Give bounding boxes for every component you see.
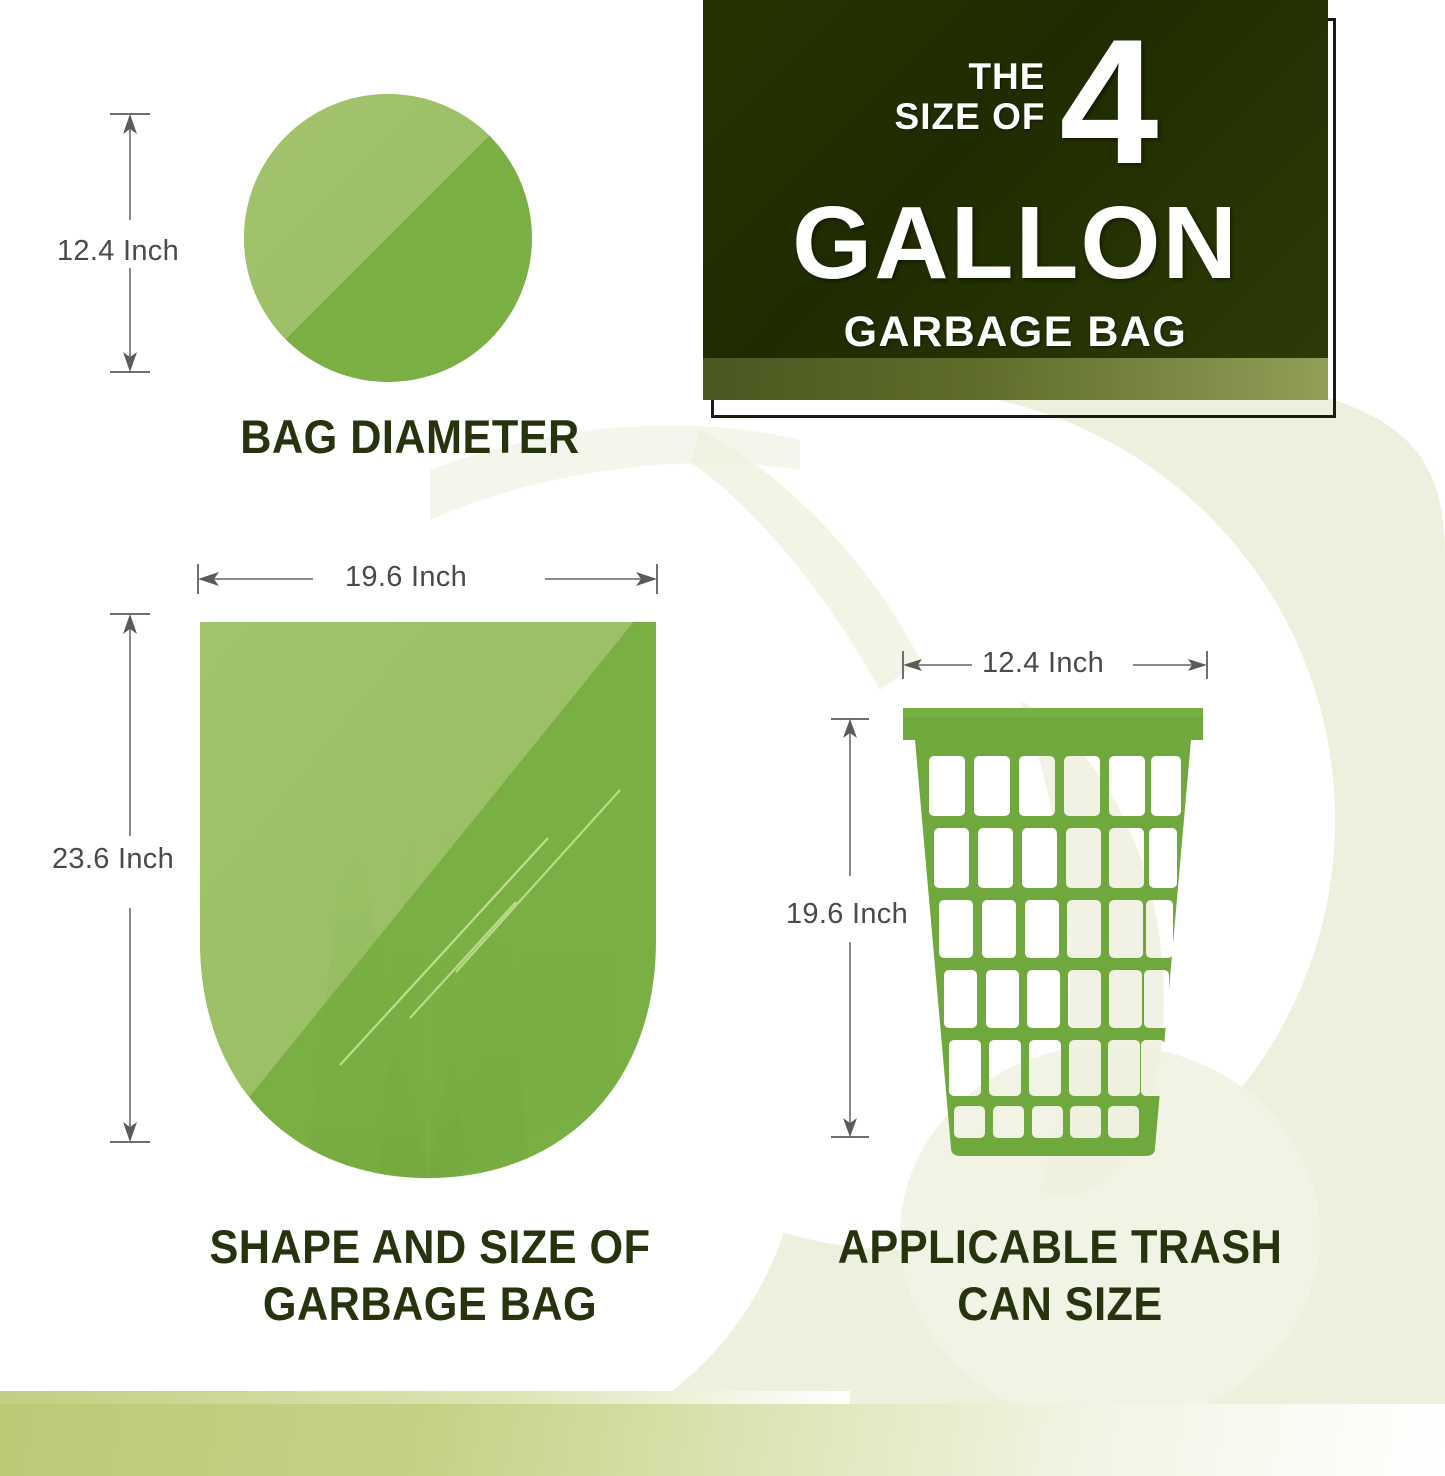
banner-size-of-label: SIZE OF (895, 95, 1046, 139)
banner-subtitle: GARBAGE BAG (844, 308, 1188, 357)
trash-can-illustration (893, 700, 1213, 1160)
infographic-canvas: THE SIZE OF 4 GALLON GARBAGE BAG 12.4 In… (0, 0, 1445, 1476)
banner-gallon-number: 4 (1059, 24, 1158, 181)
banner-gallon-label: GALLON (792, 191, 1239, 294)
garbage-bag-illustration (198, 620, 658, 1180)
trash-can-caption-line2: CAN SIZE (812, 1275, 1309, 1332)
bag-height-dimension-line (100, 608, 160, 1148)
bag-diameter-circle (243, 93, 533, 383)
bag-width-label: 19.6 Inch (345, 561, 467, 594)
bag-height-label: 23.6 Inch (52, 843, 174, 876)
footer-gradient-bar (0, 1404, 1445, 1476)
trash-can-width-label: 12.4 Inch (982, 647, 1104, 680)
trash-can-caption-line1: APPLICABLE TRASH (812, 1218, 1309, 1275)
banner-the-size-of-group: THE SIZE OF (895, 24, 1046, 139)
banner-top-row: THE SIZE OF 4 (703, 24, 1328, 181)
banner-bottom-strip (703, 358, 1328, 400)
bag-diameter-caption: BAG DIAMETER (171, 408, 649, 465)
trash-can-height-label: 19.6 Inch (786, 898, 908, 931)
bag-shape-caption-line1: SHAPE AND SIZE OF (154, 1218, 706, 1275)
gallon-size-banner: THE SIZE OF 4 GALLON GARBAGE BAG (703, 0, 1328, 400)
banner-the-label: THE (968, 58, 1045, 95)
bag-diameter-height-label: 12.4 Inch (57, 235, 179, 268)
footer-accent-strip (0, 1391, 850, 1404)
bag-shape-caption-line2: GARBAGE BAG (154, 1275, 706, 1332)
